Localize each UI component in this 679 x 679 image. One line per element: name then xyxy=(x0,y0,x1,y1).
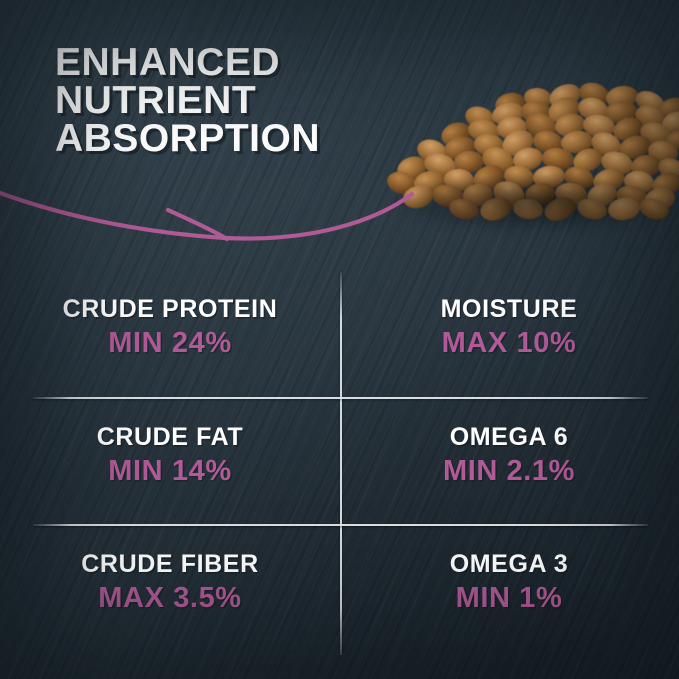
divider-vertical xyxy=(340,272,342,655)
nutrient-value: MIN 2.1% xyxy=(344,454,674,488)
nutrient-value: MAX 3.5% xyxy=(5,581,335,615)
nutrient-label: OMEGA 3 xyxy=(344,549,674,579)
nutrient-label: CRUDE PROTEIN xyxy=(5,294,335,324)
divider-horizontal-1 xyxy=(33,397,648,399)
nutrition-cell-moisture: MOISTURE MAX 10% xyxy=(344,294,674,360)
nutrition-cell-omega-3: OMEGA 3 MIN 1% xyxy=(344,549,674,615)
nutrient-label: CRUDE FAT xyxy=(5,422,335,452)
nutrient-label: OMEGA 6 xyxy=(344,422,674,452)
nutrition-cell-omega-6: OMEGA 6 MIN 2.1% xyxy=(344,422,674,488)
nutrition-cell-crude-protein: CRUDE PROTEIN MIN 24% xyxy=(5,294,335,360)
nutrient-value: MAX 10% xyxy=(344,326,674,360)
nutrient-value: MIN 14% xyxy=(5,454,335,488)
kibble-shadow xyxy=(380,172,679,234)
nutrient-label: CRUDE FIBER xyxy=(5,549,335,579)
page-title: ENHANCED NUTRIENT ABSORPTION xyxy=(55,44,475,158)
infographic-canvas: ENHANCED NUTRIENT ABSORPTION CRUDE PROTE… xyxy=(0,0,679,679)
divider-horizontal-2 xyxy=(33,524,648,526)
nutrient-label: MOISTURE xyxy=(344,294,674,324)
nutrition-cell-crude-fiber: CRUDE FIBER MAX 3.5% xyxy=(5,549,335,615)
headline-line-3: ABSORPTION xyxy=(55,120,475,158)
headline-line-1: ENHANCED xyxy=(55,44,475,82)
nutrition-table: CRUDE PROTEIN MIN 24% MOISTURE MAX 10% C… xyxy=(0,262,679,662)
nutrient-value: MIN 24% xyxy=(5,326,335,360)
curved-arrow-icon xyxy=(0,150,420,260)
nutrition-cell-crude-fat: CRUDE FAT MIN 14% xyxy=(5,422,335,488)
nutrient-value: MIN 1% xyxy=(344,581,674,615)
headline-line-2: NUTRIENT xyxy=(55,82,475,120)
